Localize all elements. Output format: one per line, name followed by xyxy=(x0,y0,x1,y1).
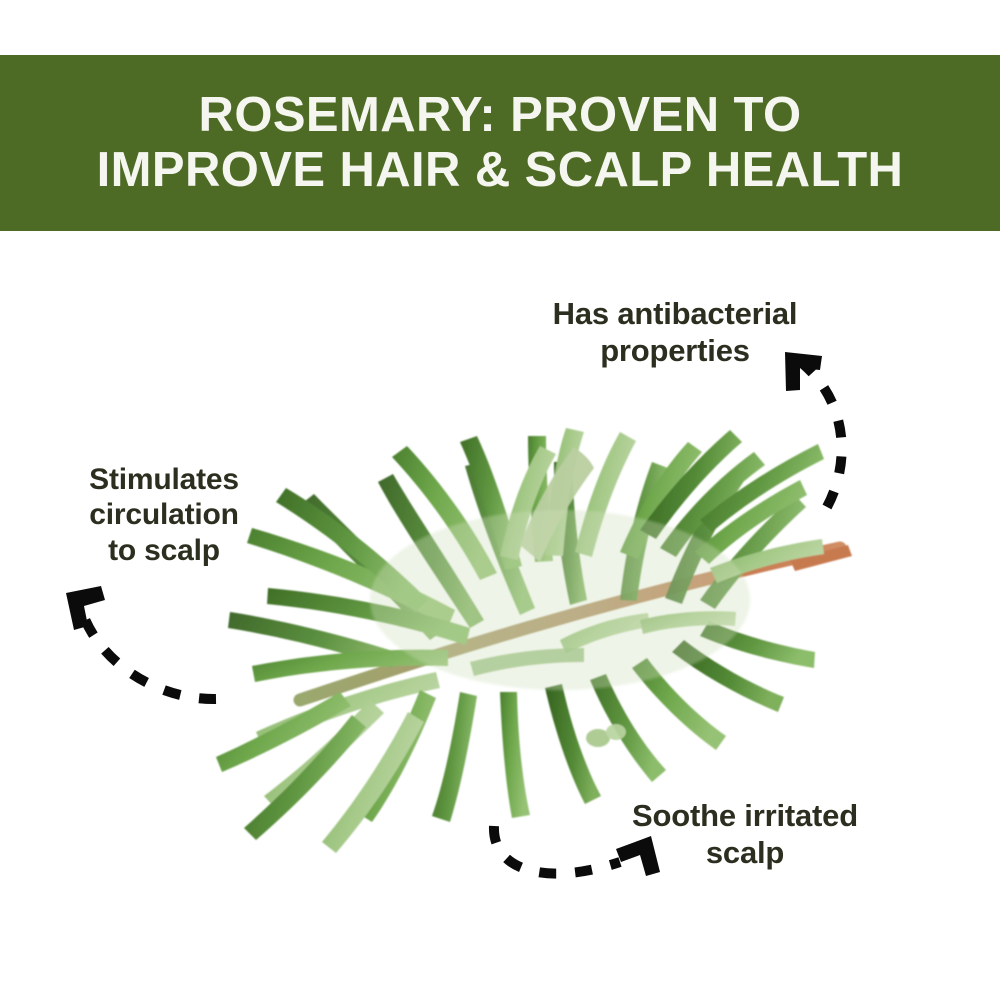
infographic-root: ROSEMARY: PROVEN TO IMPROVE HAIR & SCALP… xyxy=(0,0,1000,1000)
callout-soothe: Soothe irritated scalp xyxy=(595,798,895,871)
callout-circulation: Stimulates circulation to scalp xyxy=(58,462,270,568)
callout-antibacterial: Has antibacterial properties xyxy=(500,296,850,369)
